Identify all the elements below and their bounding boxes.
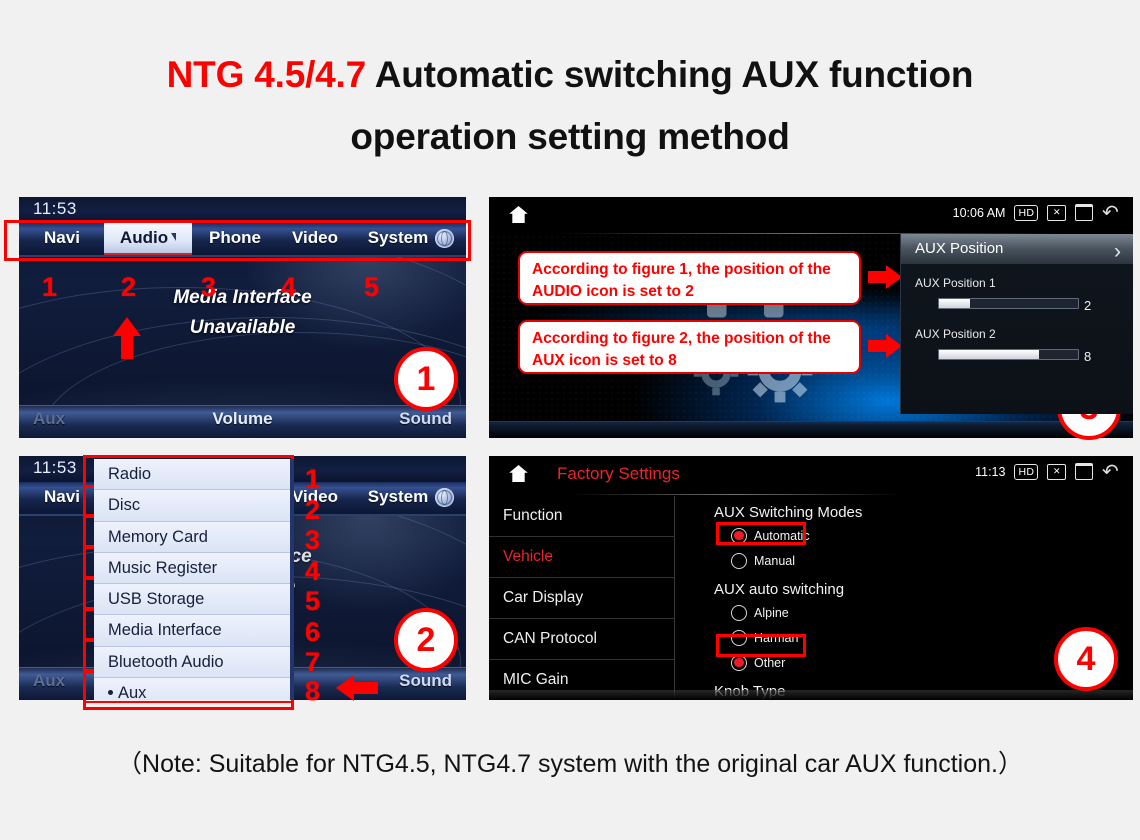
- aux-position-1-slider[interactable]: [938, 298, 1079, 309]
- nav-tab-system[interactable]: System: [355, 223, 441, 253]
- radio-label-alpine: Alpine: [754, 606, 789, 620]
- aux-position-1-row: AUX Position 1 2: [901, 276, 1133, 309]
- aux-position-2-label: AUX Position 2: [915, 327, 1133, 341]
- aux-position-card-title: AUX Position: [915, 240, 1003, 257]
- audio-source-dropdown[interactable]: Radio Disc Memory Card Music Register US…: [94, 459, 294, 700]
- aux-position-2-row: AUX Position 2 8: [901, 327, 1133, 360]
- aux-position-card-header[interactable]: AUX Position ›: [901, 234, 1133, 264]
- group-label-aux-auto-switching: AUX auto switching: [714, 581, 1133, 598]
- page-title-line-2: operation setting method: [0, 106, 1140, 168]
- chevron-down-icon: [171, 233, 176, 241]
- figure-4-factory-settings-screen: Factory Settings 11:13 HD ✕ ↷ Function V…: [489, 456, 1133, 700]
- bottom-sound-label-2[interactable]: Sound: [399, 671, 452, 691]
- aux-position-2-slider[interactable]: [938, 349, 1079, 360]
- ntg-screen-2: 11:53 Navi Video System Media Interface …: [19, 456, 466, 700]
- close-box-icon[interactable]: ✕: [1047, 464, 1066, 480]
- dropdown-label-memory-card: Memory Card: [108, 528, 208, 546]
- list-item[interactable]: Music Register: [94, 553, 290, 584]
- list-item[interactable]: Media Interface: [94, 615, 290, 646]
- selected-bullet-icon: [108, 690, 113, 695]
- nav-tab-audio[interactable]: Audio: [104, 223, 192, 255]
- home-icon[interactable]: [509, 465, 528, 482]
- status-time-4: 11:13: [975, 465, 1005, 479]
- figure-1-ntg-audio-screen: 11:53 Navi Audio Phone Video System Medi…: [19, 197, 466, 438]
- ntg-media-message: Media Interface Unavailable: [19, 283, 466, 343]
- list-item[interactable]: Memory Card: [94, 522, 290, 553]
- aux-position-1-slider-fill: [939, 299, 970, 308]
- radio-harman[interactable]: [731, 630, 747, 646]
- ntg-status-bar: 11:53: [19, 197, 466, 223]
- ntg-bottom-bar: Aux Volume Sound: [19, 405, 466, 438]
- aux-position-2-slider-fill: [939, 350, 1039, 359]
- nav-tab-navi[interactable]: Navi: [25, 223, 99, 253]
- sidebar-item-can-protocol[interactable]: CAN Protocol: [489, 619, 674, 660]
- list-item[interactable]: Bluetooth Audio: [94, 647, 290, 678]
- home-icon[interactable]: [509, 206, 528, 223]
- close-box-icon[interactable]: ✕: [1047, 205, 1066, 221]
- radio-row-manual[interactable]: Manual: [731, 548, 1133, 573]
- android-top-bar-4: Factory Settings 11:13 HD ✕ ↷: [489, 456, 1133, 492]
- dropdown-label-radio: Radio: [108, 465, 151, 483]
- radio-row-other[interactable]: Other: [731, 650, 1133, 675]
- ntg-nav-bar: Navi Audio Phone Video System: [19, 223, 466, 257]
- hd-badge-4: HD: [1014, 464, 1038, 480]
- footer-note: （Note: Suitable for NTG4.5, NTG4.7 syste…: [0, 744, 1140, 780]
- back-arrow-icon[interactable]: ↷: [1102, 465, 1119, 479]
- android-screen-3: 10:06 AM HD ✕ ↷: [489, 197, 1133, 438]
- dropdown-label-aux: Aux: [118, 684, 146, 700]
- status-time: 10:06 AM: [953, 206, 1006, 220]
- nav-tab-video[interactable]: Video: [277, 223, 353, 253]
- sidebar-item-car-display[interactable]: Car Display: [489, 578, 674, 619]
- radio-manual[interactable]: [731, 553, 747, 569]
- ntg-content-area: Media Interface Unavailable: [19, 257, 466, 406]
- nav-tab-audio-label: Audio: [120, 228, 168, 247]
- factory-settings-options: AUX Switching Modes Automatic Manual AUX…: [674, 496, 1133, 700]
- list-item[interactable]: USB Storage: [94, 584, 290, 615]
- globe-icon-2[interactable]: [435, 488, 454, 507]
- aux-position-1-value: 2: [1084, 298, 1091, 313]
- gear-icon-large: [735, 332, 825, 408]
- dropdown-label-media-interface: Media Interface: [108, 621, 222, 639]
- radio-row-alpine[interactable]: Alpine: [731, 600, 1133, 625]
- dropdown-label-disc: Disc: [108, 496, 140, 514]
- android-top-bar-3: 10:06 AM HD ✕ ↷: [489, 197, 1133, 233]
- nav-tab-system-2[interactable]: System: [355, 482, 441, 512]
- hd-badge: HD: [1014, 205, 1038, 221]
- window-icon[interactable]: [1075, 463, 1093, 480]
- radio-label-automatic: Automatic: [754, 529, 810, 543]
- android-screen-4: Factory Settings 11:13 HD ✕ ↷ Function V…: [489, 456, 1133, 700]
- globe-icon[interactable]: [435, 229, 454, 248]
- wrench-icon: [689, 254, 809, 318]
- page-title-model: NTG 4.5/4.7: [167, 54, 366, 95]
- sidebar-item-function[interactable]: Function: [489, 496, 674, 537]
- radio-label-other: Other: [754, 656, 785, 670]
- aux-position-card[interactable]: AUX Position › AUX Position 1 2 AUX Posi…: [900, 234, 1133, 414]
- window-icon[interactable]: [1075, 204, 1093, 221]
- aux-position-1-label: AUX Position 1: [915, 276, 1133, 290]
- chevron-right-icon[interactable]: ›: [1114, 237, 1121, 267]
- ntg-clock: 11:53: [33, 199, 77, 219]
- back-arrow-icon[interactable]: ↷: [1102, 206, 1119, 220]
- ntg-media-message-line-2: Unavailable: [19, 313, 466, 343]
- status-indicators-3: 10:06 AM HD ✕ ↷: [953, 204, 1119, 221]
- ntg-screen-1: 11:53 Navi Audio Phone Video System Medi…: [19, 197, 466, 438]
- bottom-sound-label[interactable]: Sound: [399, 409, 452, 429]
- radio-row-automatic[interactable]: Automatic: [731, 523, 1133, 548]
- radio-label-harman: Harman: [754, 631, 798, 645]
- ntg-clock-2: 11:53: [33, 458, 77, 478]
- dropdown-label-usb-storage: USB Storage: [108, 590, 204, 608]
- list-item[interactable]: Radio: [94, 459, 290, 490]
- page-title-line-1-rest: Automatic switching AUX function: [366, 54, 973, 95]
- bottom-aux-label-2[interactable]: Aux: [33, 671, 65, 691]
- radio-row-harman[interactable]: Harman: [731, 625, 1133, 650]
- aux-position-2-value: 8: [1084, 349, 1091, 364]
- page-title-line-1: NTG 4.5/4.7 Automatic switching AUX func…: [0, 44, 1140, 106]
- nav-tab-navi-2[interactable]: Navi: [25, 482, 99, 512]
- radio-other[interactable]: [731, 655, 747, 671]
- list-item[interactable]: Disc: [94, 490, 290, 521]
- factory-settings-title: Factory Settings: [557, 464, 680, 484]
- dropdown-label-bluetooth-audio: Bluetooth Audio: [108, 653, 224, 671]
- figure-3-aux-position-screen: 10:06 AM HD ✕ ↷: [489, 197, 1133, 438]
- android-bottom-glow-3: [489, 421, 1133, 438]
- figure-2-ntg-source-list: 11:53 Navi Video System Media Interface …: [19, 456, 466, 700]
- radio-automatic[interactable]: [731, 528, 747, 544]
- group-label-aux-switching-modes: AUX Switching Modes: [714, 504, 1133, 521]
- status-indicators-4: 11:13 HD ✕ ↷: [975, 463, 1119, 480]
- list-item-selected[interactable]: Aux: [94, 678, 290, 700]
- radio-alpine[interactable]: [731, 605, 747, 621]
- radio-label-manual: Manual: [754, 554, 795, 568]
- top-bar-divider-4: [569, 494, 903, 495]
- nav-tab-phone[interactable]: Phone: [195, 223, 275, 253]
- page-title: NTG 4.5/4.7 Automatic switching AUX func…: [0, 44, 1140, 168]
- ntg-media-message-line-1: Media Interface: [19, 283, 466, 313]
- dropdown-label-music-register: Music Register: [108, 559, 217, 577]
- factory-settings-sidebar: Function Vehicle Car Display CAN Protoco…: [489, 496, 675, 700]
- sidebar-item-vehicle[interactable]: Vehicle: [489, 537, 674, 578]
- gear-icon-small: [685, 346, 747, 400]
- android-bottom-glow-4: [489, 690, 1133, 700]
